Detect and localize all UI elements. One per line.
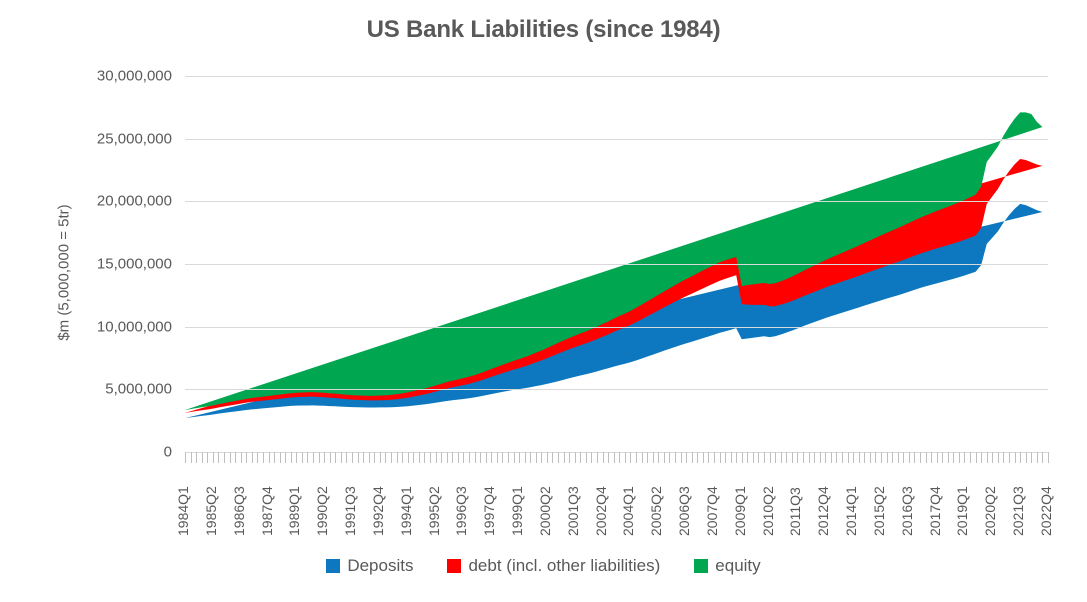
x-axis-tick	[530, 452, 531, 463]
x-axis-tick	[903, 452, 904, 463]
x-axis-tick	[257, 452, 258, 463]
x-axis-tick	[480, 452, 481, 463]
x-axis-tick	[230, 452, 231, 463]
x-axis-tick	[430, 452, 431, 463]
x-axis-tick	[614, 452, 615, 463]
gridline	[185, 201, 1048, 202]
x-axis-tick	[363, 452, 364, 463]
x-axis-tick	[1015, 452, 1016, 463]
x-axis-tick	[252, 452, 253, 463]
x-axis-tick-label: 2002Q4	[594, 486, 608, 536]
x-axis-tick	[246, 452, 247, 463]
gridline	[185, 139, 1048, 140]
x-axis-tick	[959, 452, 960, 463]
x-axis-tick-labels: 1984Q11985Q21986Q31987Q41989Q11990Q21991…	[185, 464, 1048, 536]
x-axis-tick	[547, 452, 548, 463]
y-axis-tick-label: 25,000,000	[52, 130, 172, 147]
x-axis-tick	[669, 452, 670, 463]
x-axis-tick	[981, 452, 982, 463]
x-axis-tick	[892, 452, 893, 463]
x-axis-tick-label: 2019Q1	[955, 486, 969, 536]
x-axis-tick-label: 1994Q1	[399, 486, 413, 536]
x-axis-tick	[675, 452, 676, 463]
x-axis-tick	[636, 452, 637, 463]
x-axis-tick	[747, 452, 748, 463]
plot-area	[185, 76, 1048, 452]
x-axis-tick	[653, 452, 654, 463]
x-axis-tick	[920, 452, 921, 463]
x-axis-tick	[848, 452, 849, 463]
x-axis-tick-label: 1997Q4	[482, 486, 496, 536]
x-axis-tick	[1020, 452, 1021, 463]
x-axis-tick	[714, 452, 715, 463]
x-axis-tick	[436, 452, 437, 463]
x-axis-tick	[319, 452, 320, 463]
x-axis-tick	[330, 452, 331, 463]
x-axis-tick	[207, 452, 208, 463]
x-axis-tick	[864, 452, 865, 463]
x-axis-tick-label: 2022Q4	[1039, 486, 1053, 536]
x-axis-tick	[931, 452, 932, 463]
x-axis-tick	[218, 452, 219, 463]
x-axis-tick	[447, 452, 448, 463]
x-axis-tick	[686, 452, 687, 463]
x-axis-tick	[926, 452, 927, 463]
x-axis-tick	[998, 452, 999, 463]
x-axis-tick	[185, 452, 186, 463]
x-axis-tick	[625, 452, 626, 463]
gridline	[185, 76, 1048, 77]
x-axis-tick	[976, 452, 977, 463]
x-axis-tick	[792, 452, 793, 463]
x-axis-tick	[269, 452, 270, 463]
x-axis-tick	[497, 452, 498, 463]
x-axis-tick	[781, 452, 782, 463]
x-axis-tick	[992, 452, 993, 463]
x-axis-tick	[887, 452, 888, 463]
x-axis-tick	[608, 452, 609, 463]
x-axis-tick	[803, 452, 804, 463]
x-axis-tick-label: 2014Q1	[844, 486, 858, 536]
x-axis-tick	[875, 452, 876, 463]
x-axis-tick	[558, 452, 559, 463]
x-axis-tick	[953, 452, 954, 463]
x-axis-tick	[441, 452, 442, 463]
x-axis-tick-label: 1989Q1	[287, 486, 301, 536]
x-axis-tick	[424, 452, 425, 463]
x-axis-tick	[859, 452, 860, 463]
x-axis-tick	[725, 452, 726, 463]
legend-swatch-equity	[694, 559, 708, 573]
x-axis-tick	[514, 452, 515, 463]
x-axis-tick-label: 1992Q4	[371, 486, 385, 536]
x-axis-tick	[307, 452, 308, 463]
x-axis-tick	[1042, 452, 1043, 463]
y-axis-tick-label: 20,000,000	[52, 193, 172, 210]
x-axis-tick	[764, 452, 765, 463]
x-axis-tick	[280, 452, 281, 463]
x-axis-tick	[502, 452, 503, 463]
x-axis-tick-label: 2007Q4	[705, 486, 719, 536]
x-axis-tick	[419, 452, 420, 463]
x-axis-tick-label: 2015Q2	[872, 486, 886, 536]
x-axis-tick-label: 2004Q1	[621, 486, 635, 536]
x-axis-tick	[619, 452, 620, 463]
x-axis-tick	[397, 452, 398, 463]
x-axis-tick	[285, 452, 286, 463]
x-axis-tick-label: 2009Q1	[733, 486, 747, 536]
x-axis-tick	[786, 452, 787, 463]
x-axis-tick	[469, 452, 470, 463]
y-axis-tick-label: 0	[52, 444, 172, 461]
x-axis-tick-label: 2006Q3	[677, 486, 691, 536]
x-axis-tick	[369, 452, 370, 463]
x-axis-tick	[1003, 452, 1004, 463]
x-axis-tick	[296, 452, 297, 463]
x-axis-tick	[525, 452, 526, 463]
x-axis-tick	[335, 452, 336, 463]
x-axis-tick	[1031, 452, 1032, 463]
x-axis-tick-label: 2020Q2	[983, 486, 997, 536]
x-axis-tick	[458, 452, 459, 463]
x-axis-tick	[591, 452, 592, 463]
x-axis-tick	[597, 452, 598, 463]
x-axis-tick-label: 2012Q4	[816, 486, 830, 536]
legend-label: debt (incl. other liabilities)	[468, 556, 660, 576]
x-axis-tick	[603, 452, 604, 463]
x-axis-tick	[475, 452, 476, 463]
x-axis-tick	[196, 452, 197, 463]
x-axis-tick-label: 2011Q3	[788, 487, 802, 536]
x-axis-tick	[736, 452, 737, 463]
x-axis-tick-label: 1986Q3	[232, 486, 246, 536]
x-axis-tick	[263, 452, 264, 463]
x-axis-tick	[380, 452, 381, 463]
x-axis-tick	[536, 452, 537, 463]
x-axis-tick-label: 1987Q4	[260, 486, 274, 536]
legend-item[interactable]: equity	[694, 556, 760, 576]
x-axis-tick	[909, 452, 910, 463]
x-axis-tick	[541, 452, 542, 463]
x-axis-tick	[642, 452, 643, 463]
x-axis-tick	[836, 452, 837, 463]
x-axis-tick	[842, 452, 843, 463]
x-axis-tick	[820, 452, 821, 463]
x-axis-tick	[291, 452, 292, 463]
x-axis-tick	[987, 452, 988, 463]
x-axis-tick	[964, 452, 965, 463]
x-axis-tick	[970, 452, 971, 463]
x-axis-tick-label: 2021Q3	[1011, 486, 1025, 536]
gridline	[185, 264, 1048, 265]
x-axis-tick	[552, 452, 553, 463]
x-axis-tick	[413, 452, 414, 463]
x-axis-tick	[809, 452, 810, 463]
x-axis-tick-label: 1990Q2	[315, 486, 329, 536]
x-axis-tick	[742, 452, 743, 463]
x-axis-tick	[352, 452, 353, 463]
x-axis-tick	[898, 452, 899, 463]
gridline	[185, 389, 1048, 390]
x-axis-tick	[881, 452, 882, 463]
x-axis-tick	[1048, 452, 1049, 463]
x-axis-tick	[408, 452, 409, 463]
x-axis-tick	[692, 452, 693, 463]
x-axis-tick	[491, 452, 492, 463]
x-axis-tick	[870, 452, 871, 463]
x-axis-tick	[241, 452, 242, 463]
chart-legend: Depositsdebt (incl. other liabilities)eq…	[0, 556, 1087, 576]
x-axis-tick	[703, 452, 704, 463]
x-axis-tick	[202, 452, 203, 463]
x-axis-tick	[720, 452, 721, 463]
x-axis-tick	[1037, 452, 1038, 463]
x-axis-tick	[697, 452, 698, 463]
x-axis-tick	[575, 452, 576, 463]
x-axis-tick	[346, 452, 347, 463]
x-axis-tick-label: 2005Q2	[649, 486, 663, 536]
legend-label: Deposits	[347, 556, 413, 576]
legend-swatch-debt	[447, 559, 461, 573]
x-axis-tick	[213, 452, 214, 463]
x-axis-tick-label: 2001Q3	[566, 486, 580, 536]
x-axis-tick	[814, 452, 815, 463]
x-axis-tick-label: 2000Q2	[538, 486, 552, 536]
x-axis-tick	[586, 452, 587, 463]
x-axis-tick	[753, 452, 754, 463]
x-axis-tick	[274, 452, 275, 463]
x-axis-tick-label: 1984Q1	[176, 486, 190, 536]
y-axis-tick-labels: 30,000,00025,000,00020,000,00015,000,000…	[52, 0, 172, 602]
x-axis-tick	[630, 452, 631, 463]
x-axis-tick	[385, 452, 386, 463]
x-axis-tick	[937, 452, 938, 463]
x-axis-tick	[853, 452, 854, 463]
x-axis-tick	[914, 452, 915, 463]
x-axis-tick	[191, 452, 192, 463]
x-axis-tick	[564, 452, 565, 463]
x-axis-tick	[519, 452, 520, 463]
x-axis-tick	[402, 452, 403, 463]
x-axis-tick	[758, 452, 759, 463]
x-axis-tick	[770, 452, 771, 463]
x-axis-tick	[681, 452, 682, 463]
x-axis-tick	[358, 452, 359, 463]
x-axis-tick-label: 1991Q3	[343, 486, 357, 536]
x-axis-tick	[324, 452, 325, 463]
y-axis-tick-label: 15,000,000	[52, 256, 172, 273]
x-axis-tick-label: 1995Q2	[427, 486, 441, 536]
gridline	[185, 327, 1048, 328]
x-axis-tick	[302, 452, 303, 463]
x-axis-tick	[658, 452, 659, 463]
y-axis-title-container: $m (5,000,000 = 5tr)	[42, 0, 43, 602]
x-axis-tick-label: 1999Q1	[510, 486, 524, 536]
x-axis-tick	[942, 452, 943, 463]
x-axis-tick-label: 1985Q2	[204, 486, 218, 536]
x-axis-tick	[825, 452, 826, 463]
x-axis-tick-label: 2010Q2	[761, 486, 775, 536]
x-axis-tick	[569, 452, 570, 463]
x-axis-tick	[508, 452, 509, 463]
legend-item[interactable]: Deposits	[326, 556, 413, 576]
x-axis-tick	[463, 452, 464, 463]
x-axis-tick	[731, 452, 732, 463]
x-axis-tick	[1026, 452, 1027, 463]
y-axis-tick-label: 5,000,000	[52, 381, 172, 398]
chart-container: US Bank Liabilities (since 1984) $m (5,0…	[0, 0, 1087, 602]
x-axis-tick	[1009, 452, 1010, 463]
legend-swatch-deposits	[326, 559, 340, 573]
x-axis-tick	[391, 452, 392, 463]
x-axis-tick	[235, 452, 236, 463]
x-axis-tick	[452, 452, 453, 463]
x-axis-tick	[374, 452, 375, 463]
x-axis-tick	[664, 452, 665, 463]
x-axis-tick-marks	[185, 452, 1048, 463]
x-axis-tick	[775, 452, 776, 463]
y-axis-tick-label: 30,000,000	[52, 68, 172, 85]
x-axis-tick	[647, 452, 648, 463]
x-axis-tick	[486, 452, 487, 463]
x-axis-tick	[341, 452, 342, 463]
x-axis-tick	[831, 452, 832, 463]
y-axis-tick-label: 10,000,000	[52, 318, 172, 335]
x-axis-tick	[313, 452, 314, 463]
legend-label: equity	[715, 556, 760, 576]
x-axis-tick	[580, 452, 581, 463]
legend-item[interactable]: debt (incl. other liabilities)	[447, 556, 660, 576]
x-axis-tick-label: 2017Q4	[928, 486, 942, 536]
x-axis-tick-label: 2016Q3	[900, 486, 914, 536]
x-axis-tick	[224, 452, 225, 463]
x-axis-tick	[708, 452, 709, 463]
x-axis-tick	[948, 452, 949, 463]
x-axis-tick	[797, 452, 798, 463]
x-axis-tick-label: 1996Q3	[454, 486, 468, 536]
